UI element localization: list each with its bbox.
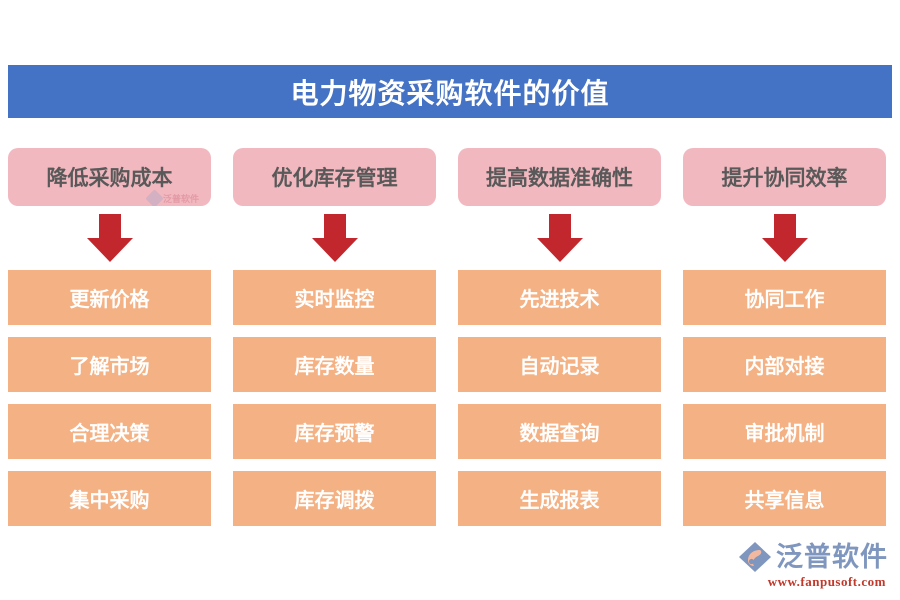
footer-logo[interactable]: 泛普软件 www.fanpusoft.com — [738, 541, 888, 590]
fanpu-logo-icon — [738, 541, 772, 573]
item-box[interactable]: 先进技术 — [458, 270, 661, 325]
item-label: 库存数量 — [295, 350, 375, 379]
arrow-down-icon — [762, 214, 808, 262]
page-title: 电力物资采购软件的价值 — [290, 72, 609, 112]
category-card-3[interactable]: 提高数据准确性 — [458, 148, 661, 206]
category-card-4[interactable]: 提升协同效率 — [683, 148, 886, 206]
watermark-text: 泛普软件 — [163, 192, 199, 205]
category-label-4: 提升协同效率 — [722, 162, 848, 192]
item-label: 合理决策 — [70, 417, 150, 446]
category-label-2: 优化库存管理 — [272, 162, 398, 192]
category-card-1[interactable]: 降低采购成本 泛普软件 — [8, 148, 211, 206]
infographic-root: 电力物资采购软件的价值 降低采购成本 泛普软件 更新价格 了解市场 — [0, 0, 900, 600]
column-3: 提高数据准确性 先进技术 自动记录 数据查询 生成报表 — [458, 148, 661, 526]
item-label: 审批机制 — [745, 417, 825, 446]
item-label: 实时监控 — [295, 283, 375, 312]
item-label: 生成报表 — [520, 484, 600, 513]
category-label-3: 提高数据准确性 — [486, 162, 633, 192]
item-box[interactable]: 了解市场 — [8, 337, 211, 392]
item-box[interactable]: 库存预警 — [233, 404, 436, 459]
arrow-1 — [8, 206, 211, 270]
item-box[interactable]: 生成报表 — [458, 471, 661, 526]
item-label: 集中采购 — [70, 484, 150, 513]
arrow-3 — [458, 206, 661, 270]
item-box[interactable]: 自动记录 — [458, 337, 661, 392]
item-box[interactable]: 合理决策 — [8, 404, 211, 459]
item-label: 自动记录 — [520, 350, 600, 379]
logo-brand-text: 泛普软件 — [776, 544, 888, 571]
item-box[interactable]: 数据查询 — [458, 404, 661, 459]
logo-row: 泛普软件 — [738, 541, 888, 573]
item-box[interactable]: 协同工作 — [683, 270, 886, 325]
item-label: 协同工作 — [745, 283, 825, 312]
item-label: 数据查询 — [520, 417, 600, 446]
item-label: 内部对接 — [745, 350, 825, 379]
item-label: 库存预警 — [295, 417, 375, 446]
item-label: 了解市场 — [70, 350, 150, 379]
item-label: 共享信息 — [745, 484, 825, 513]
title-banner: 电力物资采购软件的价值 — [8, 65, 892, 118]
category-label-1: 降低采购成本 — [47, 162, 173, 192]
columns-container: 降低采购成本 泛普软件 更新价格 了解市场 合理决策 集中采 — [8, 148, 892, 526]
arrow-down-icon — [87, 214, 133, 262]
item-box[interactable]: 共享信息 — [683, 471, 886, 526]
watermark-logo: 泛普软件 — [148, 192, 199, 205]
arrow-2 — [233, 206, 436, 270]
category-card-2[interactable]: 优化库存管理 — [233, 148, 436, 206]
arrow-4 — [683, 206, 886, 270]
arrow-down-icon — [537, 214, 583, 262]
item-label: 库存调拨 — [295, 484, 375, 513]
arrow-down-icon — [312, 214, 358, 262]
item-label: 更新价格 — [70, 283, 150, 312]
item-label: 先进技术 — [520, 283, 600, 312]
item-box[interactable]: 更新价格 — [8, 270, 211, 325]
column-1: 降低采购成本 泛普软件 更新价格 了解市场 合理决策 集中采 — [8, 148, 211, 526]
item-box[interactable]: 集中采购 — [8, 471, 211, 526]
logo-url-text: www.fanpusoft.com — [768, 574, 886, 590]
item-box[interactable]: 库存调拨 — [233, 471, 436, 526]
column-4: 提升协同效率 协同工作 内部对接 审批机制 共享信息 — [683, 148, 886, 526]
column-2: 优化库存管理 实时监控 库存数量 库存预警 库存调拨 — [233, 148, 436, 526]
item-box[interactable]: 实时监控 — [233, 270, 436, 325]
item-box[interactable]: 库存数量 — [233, 337, 436, 392]
item-box[interactable]: 内部对接 — [683, 337, 886, 392]
item-box[interactable]: 审批机制 — [683, 404, 886, 459]
